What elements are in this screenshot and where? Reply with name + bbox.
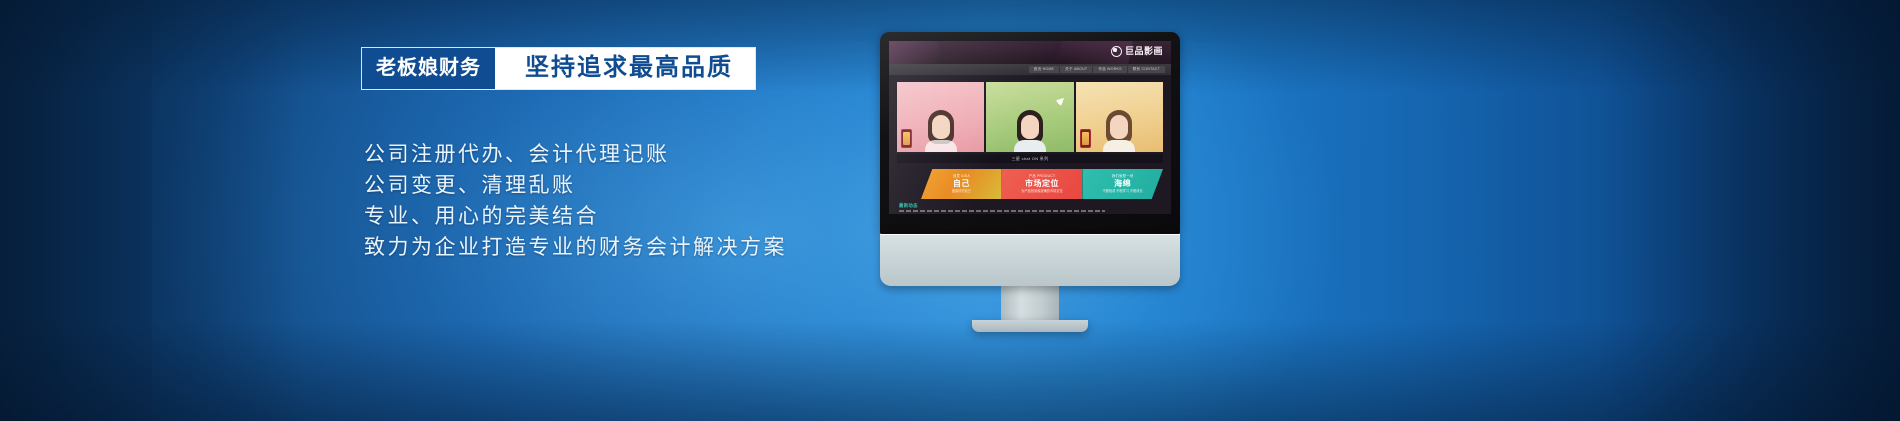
site-body: 三星 chat ON 系列 创意 IDEA 自己 做最好的自己 产品 PRODU…: [889, 76, 1171, 214]
footer-section-title: 最新动态: [899, 204, 1163, 208]
thumbnail-row: [897, 82, 1163, 152]
site-hero: 巨品影画: [889, 41, 1171, 64]
apple-logo-icon: [1022, 249, 1038, 268]
face-shape: [932, 115, 950, 139]
portrait-figure: [924, 106, 958, 152]
promo-headline: 海绵: [1114, 180, 1131, 188]
thumbnail-portrait-green: [986, 82, 1073, 152]
promo-panels: 创意 IDEA 自己 做最好的自己 产品 PRODUCT 市场定位 为产品找到最…: [897, 169, 1163, 199]
site-footer: 最新动态: [897, 204, 1163, 212]
banner-copy: 老板娘财务 坚持追求最高品质 公司注册代办、会计代理记账 公司变更、清理乱账 专…: [362, 0, 882, 421]
promo-top-label: 我们就是一块: [1112, 175, 1134, 178]
promo-panel-sponge: 我们就是一块 海绵 不断吸收 不断学习 不断成长: [1082, 169, 1163, 199]
service-line-2: 公司变更、清理乱账: [364, 171, 787, 201]
face-shape: [1110, 115, 1128, 139]
nav-item-home: 首页 HOME: [1029, 66, 1059, 73]
nav-item-about: 关于 ABOUT: [1060, 66, 1092, 73]
fan-prop: [1056, 90, 1072, 106]
service-line-4: 致力为企业打造专业的财务会计解决方案: [364, 233, 787, 263]
site-logo-text: 巨品影画: [1125, 47, 1163, 56]
thumbnail-caption-bar: 三星 chat ON 系列: [897, 154, 1163, 163]
site-nav: 首页 HOME 关于 ABOUT 作品 WORKS 联系 CONTACT: [889, 64, 1171, 76]
body-shape: [1014, 140, 1046, 152]
portrait-figure: [1013, 106, 1047, 152]
body-shape: [925, 140, 957, 152]
body-shape: [1103, 140, 1135, 152]
service-line-1: 公司注册代办、会计代理记账: [364, 140, 787, 170]
slogan-label: 坚持追求最高品质: [495, 48, 755, 89]
promo-panel-idea: 创意 IDEA 自己 做最好的自己: [921, 169, 1002, 199]
promo-subtext: 不断吸收 不断学习 不断成长: [1103, 190, 1143, 193]
brand-label: 老板娘财务: [362, 48, 495, 89]
service-line-3: 专业、用心的完美结合: [364, 202, 787, 232]
imac-illustration: 巨品影画 首页 HOME 关于 ABOUT 作品 WORKS 联系 CONTAC…: [880, 32, 1180, 332]
imac-stand-foot: [972, 320, 1088, 332]
promo-headline: 自己: [953, 180, 970, 188]
promo-top-label: 产品 PRODUCT: [1029, 175, 1056, 178]
nav-item-works: 作品 WORKS: [1093, 66, 1126, 73]
footer-placeholder-lines: [899, 210, 1105, 212]
thumbnail-caption: 三星 chat ON 系列: [1012, 157, 1049, 161]
imac-screen: 巨品影画 首页 HOME 关于 ABOUT 作品 WORKS 联系 CONTAC…: [889, 41, 1171, 214]
promo-panel-product: 产品 PRODUCT 市场定位 为产品找到最准确的市场定位: [1002, 169, 1083, 199]
phone-prop: [901, 129, 912, 148]
portrait-figure: [1102, 106, 1136, 152]
thumbnail-portrait-pink: [897, 82, 984, 152]
promo-subtext: 为产品找到最准确的市场定位: [1021, 190, 1062, 193]
banner-title: 老板娘财务 坚持追求最高品质: [362, 48, 755, 89]
phone-prop: [1080, 129, 1091, 148]
promo-top-label: 创意 IDEA: [953, 175, 970, 178]
promo-subtext: 做最好的自己: [952, 190, 971, 193]
service-list: 公司注册代办、会计代理记账 公司变更、清理乱账 专业、用心的完美结合 致力为企业…: [364, 140, 787, 264]
circle-target-icon: [1111, 46, 1122, 57]
imac-stand-neck: [1001, 286, 1059, 320]
imac-chin: [880, 234, 1180, 286]
site-logo: 巨品影画: [1111, 46, 1163, 57]
promo-headline: 市场定位: [1025, 180, 1059, 188]
imac-bezel: 巨品影画 首页 HOME 关于 ABOUT 作品 WORKS 联系 CONTAC…: [880, 32, 1180, 234]
thumbnail-portrait-yellow: [1076, 82, 1163, 152]
face-shape: [1021, 115, 1039, 139]
promo-banner: 老板娘财务 坚持追求最高品质 公司注册代办、会计代理记账 公司变更、清理乱账 专…: [0, 0, 1900, 421]
nav-item-contact: 联系 CONTACT: [1128, 66, 1165, 73]
